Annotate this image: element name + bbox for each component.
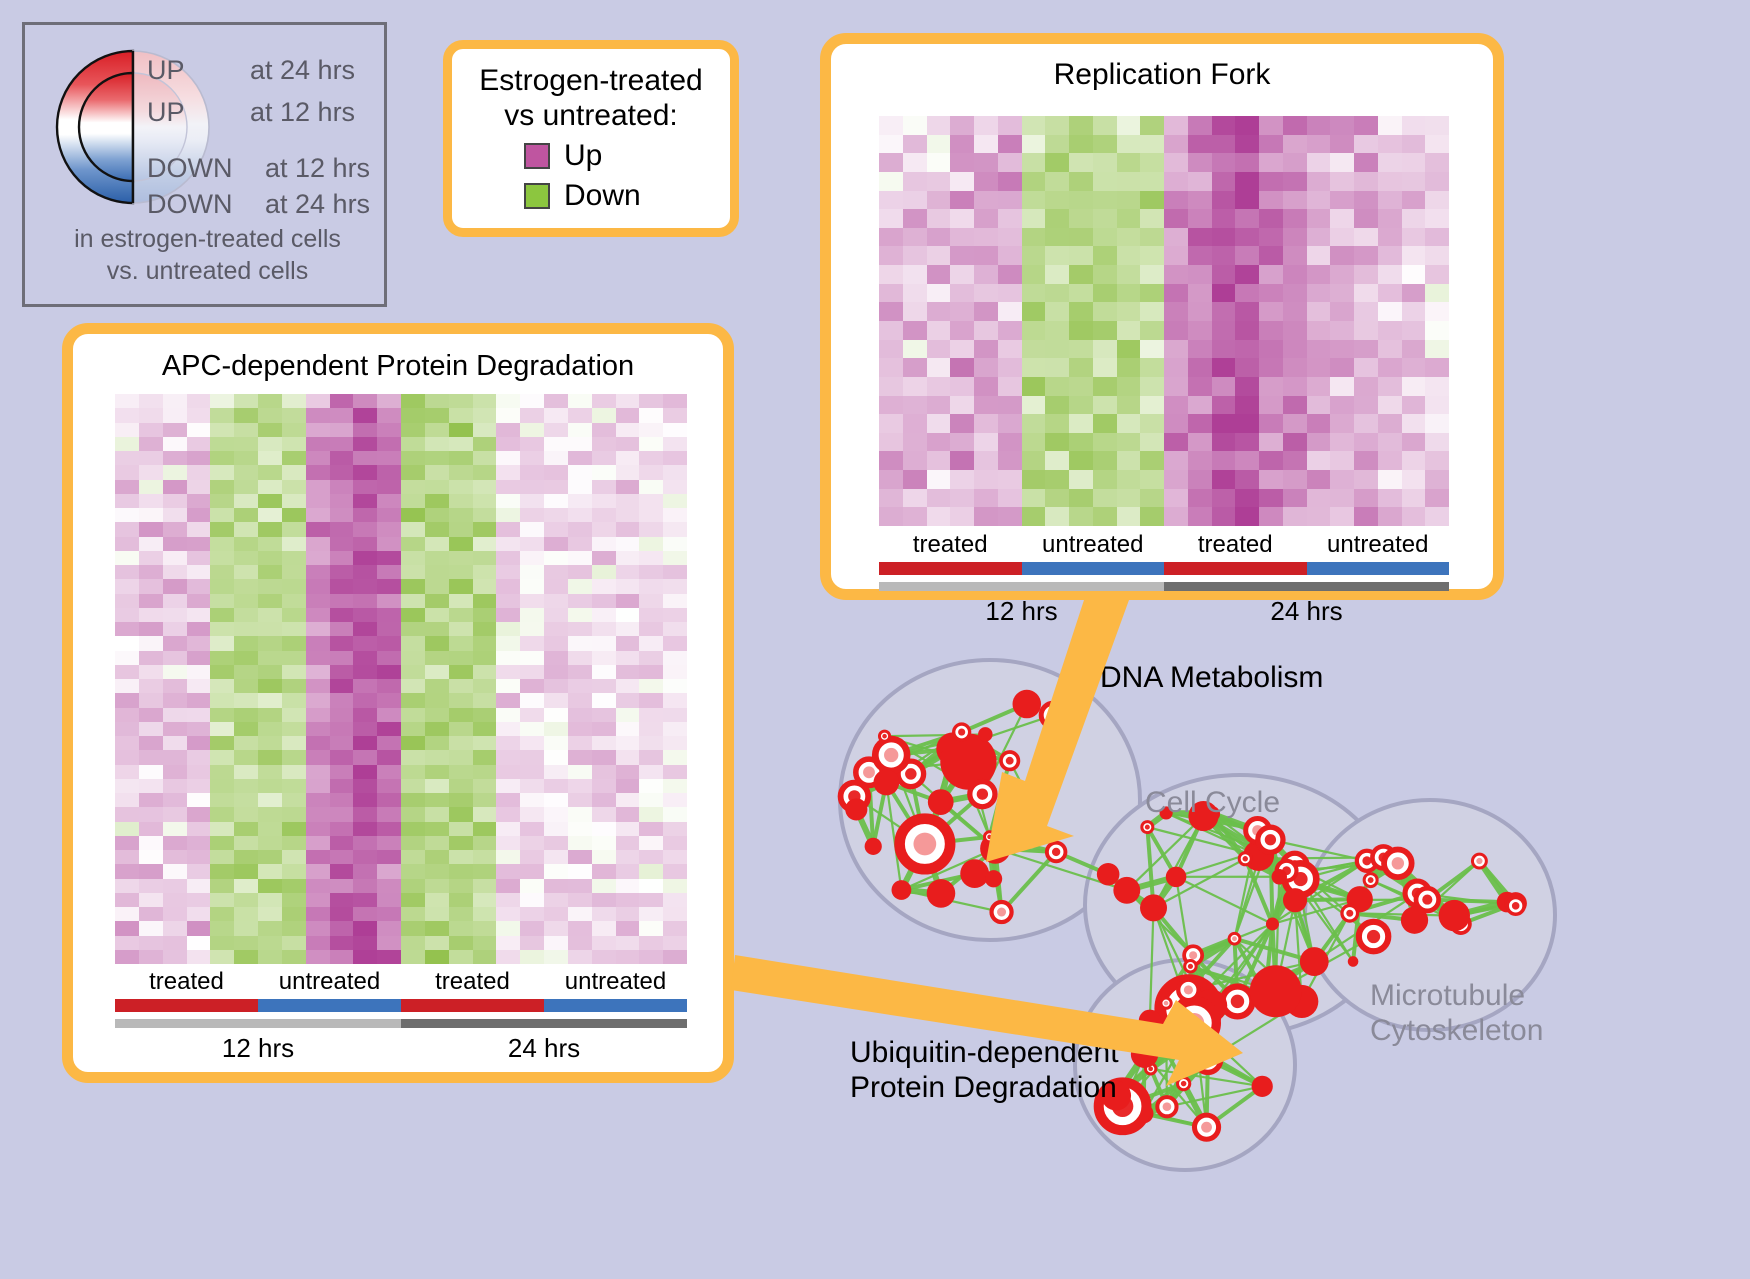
network-node[interactable]	[1283, 888, 1307, 912]
heatmap-cell	[1283, 507, 1307, 526]
time-color-segment	[879, 582, 1164, 591]
heatmap-cell	[1093, 321, 1117, 340]
heatmap-cell	[879, 302, 903, 321]
heatmap-cell	[663, 594, 687, 608]
heatmap-cell	[544, 622, 568, 636]
heatmap-cell	[1425, 470, 1449, 489]
heatmap-cell	[139, 907, 163, 921]
heatmap-cell	[1164, 340, 1188, 359]
heatmap-cell	[1378, 116, 1402, 135]
heatmap-cell	[496, 608, 520, 622]
heatmap-cell	[998, 340, 1022, 359]
heatmap-cell	[998, 172, 1022, 191]
heatmap-cell	[927, 284, 951, 303]
network-node-core	[1265, 834, 1276, 845]
heatmap-cell	[187, 850, 211, 864]
heatmap-cell	[1212, 433, 1236, 452]
heatmap-cell	[663, 936, 687, 950]
heatmap-cell	[616, 693, 640, 707]
heatmap-cell	[425, 864, 449, 878]
heatmap-cell	[520, 765, 544, 779]
network-node[interactable]	[1139, 1010, 1161, 1032]
heatmap-cell	[998, 209, 1022, 228]
heatmap-cell	[974, 209, 998, 228]
heatmap-cell	[139, 936, 163, 950]
heatmap-replication-fork	[879, 116, 1449, 526]
heatmap-cell	[1307, 340, 1331, 359]
network-node[interactable]	[1439, 900, 1470, 931]
heatmap-cell	[568, 893, 592, 907]
heatmap-cell	[496, 893, 520, 907]
heatmap-cell	[1378, 470, 1402, 489]
heatmap-cell	[377, 822, 401, 836]
time-color-segment	[1164, 582, 1449, 591]
heatmap-cell	[1330, 265, 1354, 284]
heatmap-cell	[282, 451, 306, 465]
heatmap-cell	[115, 693, 139, 707]
heatmap-cell	[139, 480, 163, 494]
heatmap-cell	[401, 921, 425, 935]
heatmap-cell	[473, 722, 497, 736]
network-node[interactable]	[985, 870, 1002, 887]
heatmap-cell	[592, 893, 616, 907]
heatmap-cell	[1117, 153, 1141, 172]
heatmap-cell	[544, 651, 568, 665]
heatmap-cell	[879, 358, 903, 377]
heatmap-cell	[1164, 396, 1188, 415]
heatmap-cell	[425, 394, 449, 408]
heatmap-cell	[139, 736, 163, 750]
heatmap-cell	[210, 522, 234, 536]
heatmap-cell	[520, 537, 544, 551]
heatmap-cell	[139, 651, 163, 665]
heatmap-cell	[234, 408, 258, 422]
heatmap-cell	[282, 822, 306, 836]
heatmap-cell	[927, 265, 951, 284]
heatmap-cell	[139, 408, 163, 422]
network-node[interactable]	[1013, 690, 1042, 719]
heatmap-cell	[1425, 116, 1449, 135]
heatmap-cell	[568, 807, 592, 821]
heatmap-cell	[903, 396, 927, 415]
heatmap-cell	[282, 893, 306, 907]
network-node-core	[1362, 856, 1371, 865]
heatmap-cell	[1093, 191, 1117, 210]
heatmap-cell	[234, 893, 258, 907]
heatmap-cell	[187, 936, 211, 950]
heatmap-cell	[139, 722, 163, 736]
heatmap-cell	[425, 693, 449, 707]
network-node[interactable]	[865, 838, 882, 855]
heatmap-cell	[1212, 414, 1236, 433]
panel-apc-degradation: APC-dependent Protein Degradation treate…	[62, 323, 734, 1083]
heatmap-cell	[234, 508, 258, 522]
heatmap-cell	[210, 551, 234, 565]
heatmap-cell	[1093, 377, 1117, 396]
heatmap-cell	[544, 765, 568, 779]
heatmap-cell	[353, 537, 377, 551]
heatmap-cell	[1164, 284, 1188, 303]
heatmap-cell	[544, 893, 568, 907]
heatmap-cell	[616, 651, 640, 665]
heatmap-cell	[639, 936, 663, 950]
heatmap-cell	[639, 793, 663, 807]
heatmap-cell	[1425, 153, 1449, 172]
heatmap-cell	[330, 423, 354, 437]
heatmap-cell	[616, 807, 640, 821]
network-node[interactable]	[978, 727, 992, 741]
heatmap-cell	[353, 480, 377, 494]
network-node-core	[987, 835, 992, 840]
heatmap-cell	[306, 408, 330, 422]
heatmap-cell	[210, 708, 234, 722]
key-row-0-word: UP	[147, 55, 185, 86]
network-node[interactable]	[1113, 877, 1140, 904]
heatmap-cell	[258, 494, 282, 508]
heatmap-cell	[163, 822, 187, 836]
heatmap-cell	[401, 864, 425, 878]
heatmap-cell	[879, 191, 903, 210]
cluster-label-cell-cycle: Cell Cycle	[1145, 785, 1280, 820]
network-node[interactable]	[845, 798, 867, 820]
heatmap-cell	[306, 850, 330, 864]
heatmap-cell	[234, 636, 258, 650]
heatmap-cell	[520, 651, 544, 665]
heatmap-cell	[1188, 302, 1212, 321]
heatmap-cell	[187, 822, 211, 836]
heatmap-cell	[496, 437, 520, 451]
heatmap-cell	[401, 437, 425, 451]
time-labels-apc: 12 hrs24 hrs	[115, 1033, 687, 1064]
heatmap-cell	[306, 579, 330, 593]
heatmap-cell	[544, 736, 568, 750]
heatmap-cell	[1140, 302, 1164, 321]
heatmap-cell	[1307, 116, 1331, 135]
heatmap-cell	[425, 708, 449, 722]
heatmap-cell	[663, 950, 687, 964]
heatmap-cell	[616, 907, 640, 921]
heatmap-cell	[1117, 284, 1141, 303]
network-node[interactable]	[1252, 1076, 1273, 1097]
heatmap-cell	[616, 793, 640, 807]
heatmap-cell	[234, 750, 258, 764]
heatmap-cell	[616, 665, 640, 679]
heatmap-cell	[306, 950, 330, 964]
heatmap-cell	[616, 779, 640, 793]
heatmap-cell	[210, 508, 234, 522]
heatmap-cell	[903, 228, 927, 247]
heatmap-cell	[974, 191, 998, 210]
network-node[interactable]	[1300, 947, 1329, 976]
heatmap-cell	[1022, 302, 1046, 321]
heatmap-cell	[639, 665, 663, 679]
heatmap-cell	[496, 408, 520, 422]
heatmap-cell	[663, 423, 687, 437]
heatmap-cell	[568, 565, 592, 579]
network-node-core	[1202, 1054, 1213, 1065]
heatmap-cell	[330, 451, 354, 465]
heatmap-cell	[1235, 284, 1259, 303]
heatmap-cell	[1069, 396, 1093, 415]
heatmap-cell	[187, 394, 211, 408]
network-node-core	[1346, 910, 1353, 917]
heatmap-cell	[544, 551, 568, 565]
heatmap-cell	[1093, 470, 1117, 489]
heatmap-cell	[1235, 172, 1259, 191]
heatmap-cell	[639, 522, 663, 536]
heatmap-cell	[258, 893, 282, 907]
heatmap-cell	[449, 722, 473, 736]
heatmap-cell	[1402, 377, 1426, 396]
heatmap-cell	[1117, 172, 1141, 191]
heatmap-cell	[950, 396, 974, 415]
heatmap-cell	[1235, 507, 1259, 526]
heatmap-cell	[473, 950, 497, 964]
network-node[interactable]	[1266, 917, 1279, 930]
heatmap-cell	[401, 465, 425, 479]
heatmap-cell	[592, 864, 616, 878]
heatmap-cell	[234, 950, 258, 964]
heatmap-cell	[1354, 265, 1378, 284]
heatmap-cell	[425, 494, 449, 508]
group-label: treated	[115, 968, 258, 996]
heatmap-cell	[234, 793, 258, 807]
heatmap-cell	[425, 779, 449, 793]
heatmap-cell	[616, 679, 640, 693]
heatmap-cell	[903, 172, 927, 191]
heatmap-cell	[473, 522, 497, 536]
heatmap-cell	[115, 423, 139, 437]
heatmap-cell	[210, 850, 234, 864]
heatmap-cell	[639, 807, 663, 821]
network-node-core	[905, 768, 916, 779]
heatmap-cell	[879, 377, 903, 396]
heatmap-cell	[616, 836, 640, 850]
heatmap-cell	[1354, 153, 1378, 172]
network-node[interactable]	[1166, 867, 1187, 888]
heatmap-cell	[473, 665, 497, 679]
heatmap-cell	[1117, 470, 1141, 489]
legend-label-down: Down	[564, 179, 641, 213]
heatmap-cell	[401, 907, 425, 921]
heatmap-cell	[568, 750, 592, 764]
heatmap-cell	[163, 807, 187, 821]
heatmap-cell	[258, 907, 282, 921]
heatmap-cell	[592, 622, 616, 636]
heatmap-cell	[544, 423, 568, 437]
heatmap-cell	[425, 465, 449, 479]
heatmap-cell	[592, 451, 616, 465]
heatmap-cell	[306, 394, 330, 408]
heatmap-cell	[139, 708, 163, 722]
heatmap-cell	[449, 793, 473, 807]
heatmap-cell	[1164, 153, 1188, 172]
heatmap-cell	[544, 850, 568, 864]
heatmap-cell	[1212, 265, 1236, 284]
heatmap-cell	[330, 565, 354, 579]
heatmap-cell	[1235, 246, 1259, 265]
heatmap-cell	[520, 907, 544, 921]
heatmap-cell	[353, 907, 377, 921]
heatmap-cell	[473, 822, 497, 836]
heatmap-cell	[1045, 191, 1069, 210]
heatmap-cell	[1093, 433, 1117, 452]
heatmap-cell	[187, 879, 211, 893]
heatmap-cell	[1069, 116, 1093, 135]
heatmap-cell	[903, 246, 927, 265]
heatmap-cell	[1425, 265, 1449, 284]
heatmap-cell	[115, 665, 139, 679]
heatmap-cell	[1283, 209, 1307, 228]
heatmap-cell	[1330, 321, 1354, 340]
heatmap-cell	[282, 622, 306, 636]
heatmap-cell	[449, 950, 473, 964]
heatmap-cell	[425, 850, 449, 864]
heatmap-cell	[258, 408, 282, 422]
heatmap-cell	[639, 693, 663, 707]
heatmap-cell	[1402, 396, 1426, 415]
heatmap-cell	[639, 950, 663, 964]
heatmap-cell	[258, 708, 282, 722]
heatmap-cell	[401, 722, 425, 736]
heatmap-cell	[115, 779, 139, 793]
heatmap-cell	[258, 565, 282, 579]
network-node[interactable]	[960, 859, 989, 888]
heatmap-cell	[187, 465, 211, 479]
heatmap-cell	[330, 907, 354, 921]
heatmap-cell	[377, 451, 401, 465]
heatmap-cell	[377, 608, 401, 622]
heatmap-cell	[1093, 284, 1117, 303]
heatmap-cell	[1022, 358, 1046, 377]
heatmap-cell	[1093, 153, 1117, 172]
network-node[interactable]	[1348, 956, 1359, 967]
heatmap-cell	[306, 608, 330, 622]
heatmap-cell	[163, 394, 187, 408]
heatmap-cell	[377, 594, 401, 608]
network-node-core	[1422, 895, 1432, 905]
heatmap-cell	[234, 836, 258, 850]
heatmap-cell	[544, 807, 568, 821]
heatmap-cell	[520, 551, 544, 565]
heatmap-cell	[616, 750, 640, 764]
heatmap-cell	[496, 522, 520, 536]
axis-annotation-apc: treateduntreatedtreateduntreated 12 hrs2…	[115, 968, 687, 1064]
heatmap-cell	[1235, 135, 1259, 154]
heatmap-cell	[1022, 228, 1046, 247]
heatmap-cell	[306, 736, 330, 750]
network-node-core	[1184, 1013, 1204, 1033]
heatmap-cell	[377, 579, 401, 593]
network-node[interactable]	[1272, 869, 1287, 884]
heatmap-cell	[258, 423, 282, 437]
heatmap-cell	[592, 807, 616, 821]
heatmap-cell	[258, 822, 282, 836]
heatmap-cell	[1117, 358, 1141, 377]
heatmap-cell	[663, 779, 687, 793]
heatmap-cell	[1402, 433, 1426, 452]
heatmap-cell	[1069, 246, 1093, 265]
heatmap-cell	[1045, 489, 1069, 508]
heatmap-cell	[544, 608, 568, 622]
heatmap-cell	[592, 679, 616, 693]
network-node[interactable]	[1131, 1041, 1158, 1068]
heatmap-cell	[377, 850, 401, 864]
heatmap-cell	[210, 807, 234, 821]
heatmap-cell	[401, 565, 425, 579]
heatmap-cell	[592, 708, 616, 722]
heatmap-cell	[306, 451, 330, 465]
heatmap-cell	[234, 722, 258, 736]
heatmap-cell	[1188, 153, 1212, 172]
heatmap-cell	[163, 579, 187, 593]
heatmap-cell	[401, 879, 425, 893]
network-node[interactable]	[928, 789, 954, 815]
heatmap-cell	[1425, 340, 1449, 359]
heatmap-cell	[592, 480, 616, 494]
heatmap-cell	[568, 423, 592, 437]
heatmap-cell	[520, 850, 544, 864]
panel-title-replication: Replication Fork	[831, 58, 1493, 92]
heatmap-cell	[998, 489, 1022, 508]
network-node[interactable]	[873, 770, 899, 796]
heatmap-cell	[639, 879, 663, 893]
heatmap-cell	[639, 836, 663, 850]
network-node[interactable]	[1250, 965, 1302, 1017]
network-node[interactable]	[1140, 894, 1167, 921]
heatmap-cell	[1164, 116, 1188, 135]
heatmap-cell	[568, 522, 592, 536]
heatmap-cell	[473, 537, 497, 551]
heatmap-cell	[1378, 135, 1402, 154]
network-node[interactable]	[892, 880, 912, 900]
heatmap-cell	[425, 508, 449, 522]
heatmap-cell	[544, 679, 568, 693]
heatmap-cell	[1354, 377, 1378, 396]
heatmap-cell	[544, 522, 568, 536]
heatmap-cell	[639, 779, 663, 793]
heatmap-cell	[1164, 321, 1188, 340]
group-color-segment	[115, 999, 258, 1012]
network-node[interactable]	[1097, 863, 1120, 886]
heatmap-cell	[974, 358, 998, 377]
heatmap-cell	[592, 465, 616, 479]
heatmap-cell	[353, 608, 377, 622]
heatmap-cell	[139, 579, 163, 593]
heatmap-cell	[1330, 396, 1354, 415]
heatmap-cell	[1069, 191, 1093, 210]
heatmap-cell	[473, 850, 497, 864]
heatmap-cell	[998, 246, 1022, 265]
heatmap-cell	[330, 736, 354, 750]
heatmap-cell	[210, 394, 234, 408]
heatmap-cell	[927, 191, 951, 210]
heatmap-cell	[306, 893, 330, 907]
heatmap-cell	[353, 465, 377, 479]
heatmap-cell	[1330, 302, 1354, 321]
heatmap-cell	[282, 950, 306, 964]
heatmap-cell	[401, 693, 425, 707]
heatmap-cell	[401, 793, 425, 807]
heatmap-cell	[1022, 135, 1046, 154]
heatmap-cell	[1212, 135, 1236, 154]
heatmap-cell	[1235, 191, 1259, 210]
heatmap-cell	[903, 302, 927, 321]
heatmap-cell	[998, 153, 1022, 172]
network-node[interactable]	[927, 879, 956, 908]
heatmap-cell	[592, 423, 616, 437]
heatmap-cell	[449, 936, 473, 950]
